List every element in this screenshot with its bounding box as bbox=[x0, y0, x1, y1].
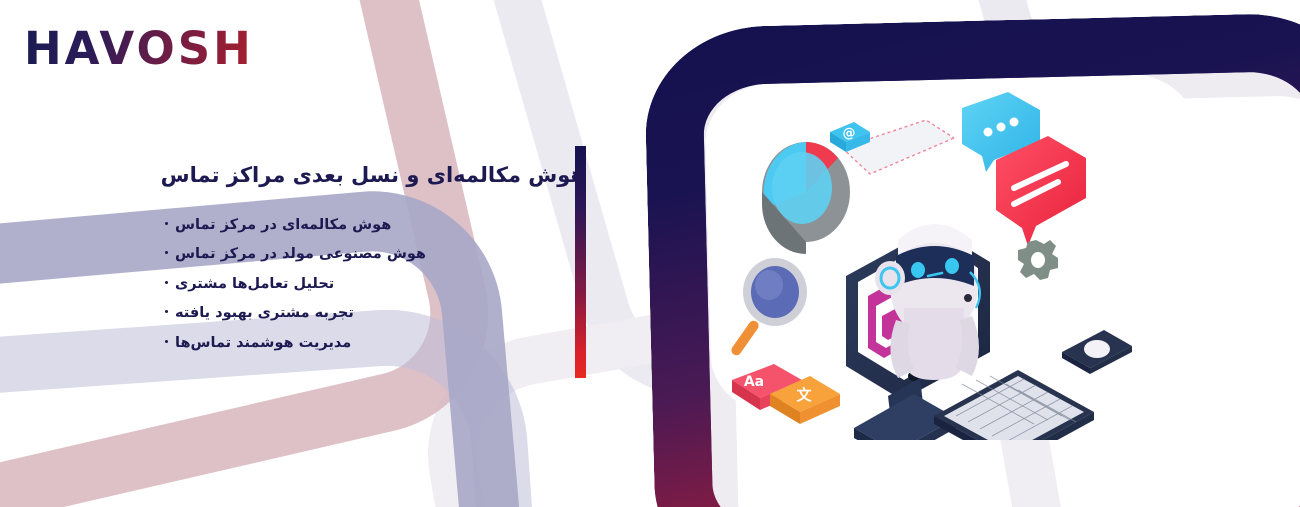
feature-label: هوش مصنوعی مولد در مرکز تماس bbox=[175, 247, 426, 262]
mouse-icon bbox=[1084, 340, 1110, 358]
list-item: تحلیل تعامل‌ها مشتری bbox=[165, 277, 585, 292]
feature-list: هوش مکالمه‌ای در مرکز تماس هوش مصنوعی مو… bbox=[165, 218, 585, 351]
illustration-ai-call-center: Aa 文 @ bbox=[718, 80, 1148, 440]
list-item: تجربه مشتری بهبود یافته bbox=[165, 306, 585, 321]
list-item: مدیریت هوشمند تماس‌ها bbox=[165, 336, 585, 351]
email-envelope-icon: @ bbox=[830, 120, 954, 174]
list-item: هوش مکالمه‌ای در مرکز تماس bbox=[165, 218, 585, 233]
bullet-dot-icon bbox=[165, 340, 168, 343]
translate-card-latin-label: Aa bbox=[744, 374, 764, 390]
feature-label: مدیریت هوشمند تماس‌ها bbox=[175, 336, 351, 351]
translate-card-cjk-label: 文 bbox=[796, 386, 812, 404]
brand-logo[interactable]: HAVOSH bbox=[24, 26, 254, 71]
pie-chart-icon bbox=[762, 142, 850, 254]
copy-block: هوش مکالمه‌ای و نسل بعدی مراکز تماس هوش … bbox=[165, 160, 585, 365]
mouse-pad bbox=[1062, 330, 1132, 374]
email-at-label: @ bbox=[843, 126, 856, 141]
gear-icon bbox=[1018, 240, 1058, 280]
bullet-dot-icon bbox=[165, 281, 168, 284]
bullet-dot-icon bbox=[165, 310, 168, 313]
feature-label: تجربه مشتری بهبود یافته bbox=[175, 306, 354, 321]
accent-gradient-bar bbox=[575, 146, 586, 378]
feature-label: تحلیل تعامل‌ها مشتری bbox=[175, 277, 334, 292]
feature-label: هوش مکالمه‌ای در مرکز تماس bbox=[175, 218, 391, 233]
banner-root: HAVOSH هوش مکالمه‌ای و نسل بعدی مراکز تم… bbox=[0, 0, 1300, 507]
bullet-dot-icon bbox=[165, 251, 168, 254]
bullet-dot-icon bbox=[165, 222, 168, 225]
page-title: هوش مکالمه‌ای و نسل بعدی مراکز تماس bbox=[165, 160, 585, 192]
magnifier-icon bbox=[729, 258, 807, 357]
brand-logo-text: HAVOSH bbox=[24, 26, 254, 71]
keyboard bbox=[934, 370, 1094, 440]
list-item: هوش مصنوعی مولد در مرکز تماس bbox=[165, 247, 585, 262]
